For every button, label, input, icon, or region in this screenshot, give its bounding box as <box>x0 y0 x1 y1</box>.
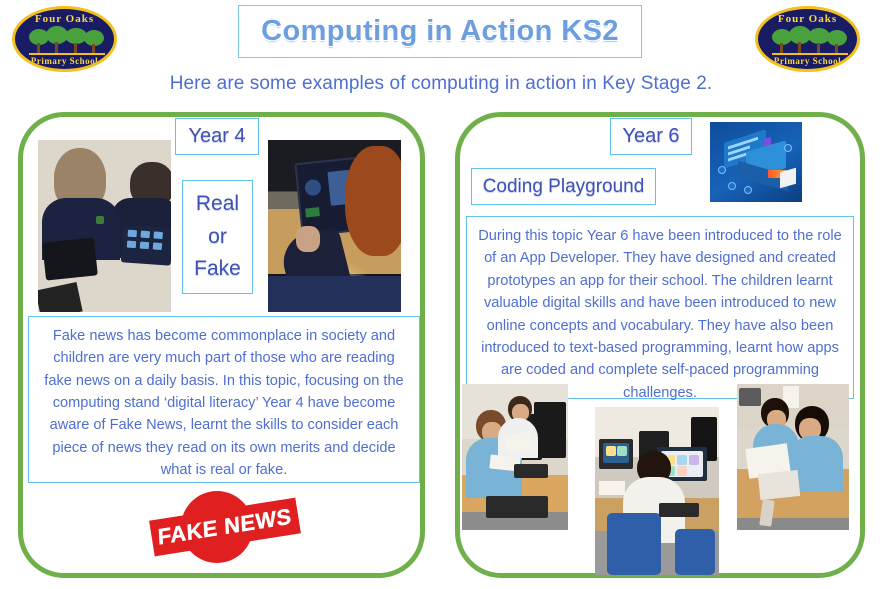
poster-page: Four Oaks Primary School Four Oaks <box>0 0 882 589</box>
page-title: Computing in Action KS2 <box>261 15 619 48</box>
school-logo-left: Four Oaks Primary School <box>12 6 117 72</box>
label-year-6: Year 6 <box>610 118 692 155</box>
page-subtitle: Here are some examples of computing in a… <box>0 73 882 95</box>
logo-top-text: Four Oaks <box>15 13 114 25</box>
oak-trees-icon <box>27 26 107 58</box>
label-real: Real <box>196 188 239 221</box>
logo-bottom-text: Primary School <box>758 56 857 66</box>
photo-pupils-at-computers-1 <box>462 384 568 530</box>
label-year-4-text: Year 4 <box>188 125 245 148</box>
page-title-box: Computing in Action KS2 <box>238 5 642 58</box>
label-year-6-text: Year 6 <box>622 125 679 148</box>
paragraph-year4: Fake news has become commonplace in soci… <box>39 325 409 481</box>
stamp-text: FAKE NEWS <box>157 503 292 550</box>
photo-pupil-at-laptop <box>595 407 719 575</box>
fake-news-stamp: FAKE NEWS <box>149 487 301 567</box>
label-year-4: Year 4 <box>175 118 259 155</box>
school-logo-right: Four Oaks Primary School <box>755 6 860 72</box>
photo-pupils-using-tablets <box>38 140 171 312</box>
paragraph-box-year6: During this topic Year 6 have been intro… <box>466 216 854 399</box>
label-real-or-fake: Real or Fake <box>182 180 253 294</box>
photo-pupils-at-computers-2 <box>737 384 849 530</box>
label-fake: Fake <box>194 253 241 286</box>
photo-pupil-photographing-tablet <box>268 140 401 312</box>
oak-trees-icon <box>770 26 850 58</box>
logo-bottom-text: Primary School <box>15 56 114 66</box>
paragraph-year6: During this topic Year 6 have been intro… <box>478 225 842 404</box>
label-coding-playground: Coding Playground <box>471 168 656 205</box>
label-coding-playground-text: Coding Playground <box>483 176 645 198</box>
paragraph-box-year4: Fake news has become commonplace in soci… <box>28 316 420 483</box>
coding-tech-illustration <box>710 122 802 202</box>
label-or: or <box>208 221 227 254</box>
logo-top-text: Four Oaks <box>758 13 857 25</box>
